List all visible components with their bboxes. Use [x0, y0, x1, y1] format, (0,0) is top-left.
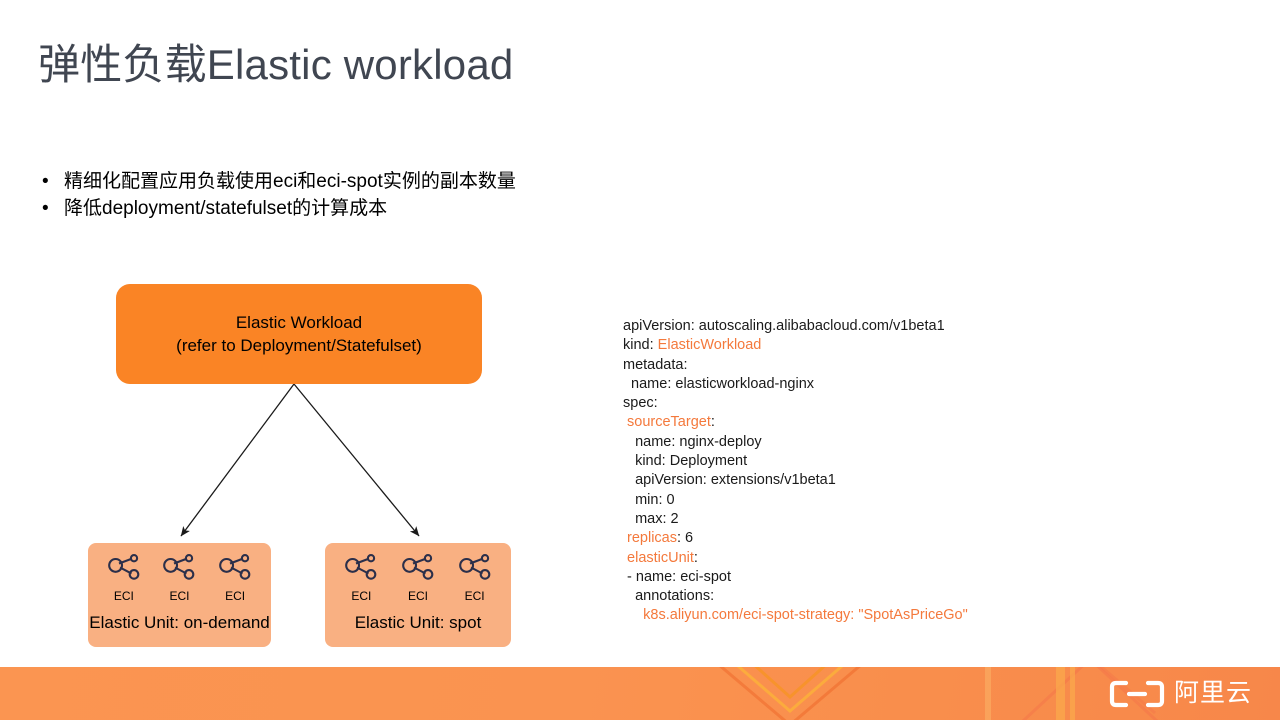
yaml-line: k8s.aliyun.com/eci-spot-strategy: "SpotA…	[623, 606, 968, 625]
yaml-key-highlight: elasticUnit	[627, 550, 694, 566]
footer-chevron-decoration	[0, 667, 1280, 720]
alibaba-cloud-logo-text: 阿里云	[1174, 681, 1252, 706]
yaml-key-highlight: ElasticWorkload	[658, 337, 762, 353]
yaml-manifest: apiVersion: autoscaling.alibabacloud.com…	[623, 317, 968, 626]
eci-instance-label: ECI	[225, 589, 245, 603]
elastic-unit-caption: Elastic Unit: on-demand	[88, 613, 271, 633]
eci-node-icon	[401, 554, 435, 580]
elastic-workload-node-title: Elastic Workload	[236, 311, 362, 334]
yaml-text: :	[711, 414, 715, 430]
alibaba-cloud-bracket-icon	[1109, 680, 1165, 708]
yaml-text: kind: Deployment	[623, 453, 747, 469]
yaml-text: name: elasticworkload-nginx	[623, 376, 814, 392]
elastic-workload-node-subtitle: (refer to Deployment/Statefulset)	[176, 334, 422, 357]
footer-bar: 阿里云	[0, 667, 1280, 720]
yaml-text: max: 2	[623, 511, 679, 527]
eci-instance-label: ECI	[465, 589, 485, 603]
elastic-workload-node[interactable]: Elastic Workload (refer to Deployment/St…	[116, 284, 482, 384]
eci-instance[interactable]: ECI	[392, 554, 444, 603]
yaml-text: spec:	[623, 395, 658, 411]
yaml-line: elasticUnit:	[623, 549, 968, 568]
yaml-text	[623, 607, 643, 623]
arrow-to-spot-unit	[294, 384, 419, 536]
yaml-line: name: nginx-deploy	[623, 433, 968, 452]
yaml-key-highlight: k8s.aliyun.com/eci-spot-strategy: "SpotA…	[643, 607, 968, 623]
architecture-diagram: Elastic Workload (refer to Deployment/St…	[0, 0, 620, 667]
yaml-line: annotations:	[623, 587, 968, 606]
eci-node-icon	[344, 554, 378, 580]
eci-instance-label: ECI	[114, 589, 134, 603]
yaml-line: min: 0	[623, 491, 968, 510]
yaml-key-highlight: replicas	[627, 530, 677, 546]
yaml-line: kind: Deployment	[623, 452, 968, 471]
eci-instance-label: ECI	[408, 589, 428, 603]
eci-instance[interactable]: ECI	[209, 554, 261, 603]
yaml-text: apiVersion: autoscaling.alibabacloud.com…	[623, 318, 945, 334]
yaml-text: kind:	[623, 337, 658, 353]
yaml-line: apiVersion: extensions/v1beta1	[623, 471, 968, 490]
eci-instance[interactable]: ECI	[98, 554, 150, 603]
yaml-text: metadata:	[623, 357, 688, 373]
yaml-line: apiVersion: autoscaling.alibabacloud.com…	[623, 317, 968, 336]
elastic-unit-spot[interactable]: ECI ECI	[325, 543, 511, 647]
yaml-text: :	[694, 550, 698, 566]
yaml-line: max: 2	[623, 510, 968, 529]
yaml-line: replicas: 6	[623, 529, 968, 548]
eci-node-icon	[107, 554, 141, 580]
yaml-text: name: nginx-deploy	[623, 434, 762, 450]
yaml-key-highlight: sourceTarget	[627, 414, 711, 430]
yaml-text: min: 0	[623, 492, 675, 508]
eci-instance[interactable]: ECI	[449, 554, 501, 603]
eci-instance-row: ECI ECI	[325, 554, 511, 603]
eci-instance[interactable]: ECI	[153, 554, 205, 603]
elastic-unit-caption: Elastic Unit: spot	[325, 613, 511, 633]
yaml-text: apiVersion: extensions/v1beta1	[623, 472, 836, 488]
eci-node-icon	[162, 554, 196, 580]
yaml-line: kind: ElasticWorkload	[623, 336, 968, 355]
yaml-line: metadata:	[623, 356, 968, 375]
yaml-line: - name: eci-spot	[623, 568, 968, 587]
yaml-line: spec:	[623, 394, 968, 413]
alibaba-cloud-logo: 阿里云	[1109, 667, 1252, 720]
yaml-text: - name: eci-spot	[623, 569, 731, 585]
eci-node-icon	[458, 554, 492, 580]
yaml-text: annotations:	[623, 588, 714, 604]
eci-instance[interactable]: ECI	[335, 554, 387, 603]
yaml-line: name: elasticworkload-nginx	[623, 375, 968, 394]
eci-instance-row: ECI ECI	[88, 554, 271, 603]
yaml-text: : 6	[677, 530, 693, 546]
eci-node-icon	[218, 554, 252, 580]
yaml-line: sourceTarget:	[623, 413, 968, 432]
eci-instance-label: ECI	[351, 589, 371, 603]
arrow-to-on-demand-unit	[181, 384, 294, 536]
eci-instance-label: ECI	[169, 589, 189, 603]
elastic-unit-on-demand[interactable]: ECI ECI	[88, 543, 271, 647]
